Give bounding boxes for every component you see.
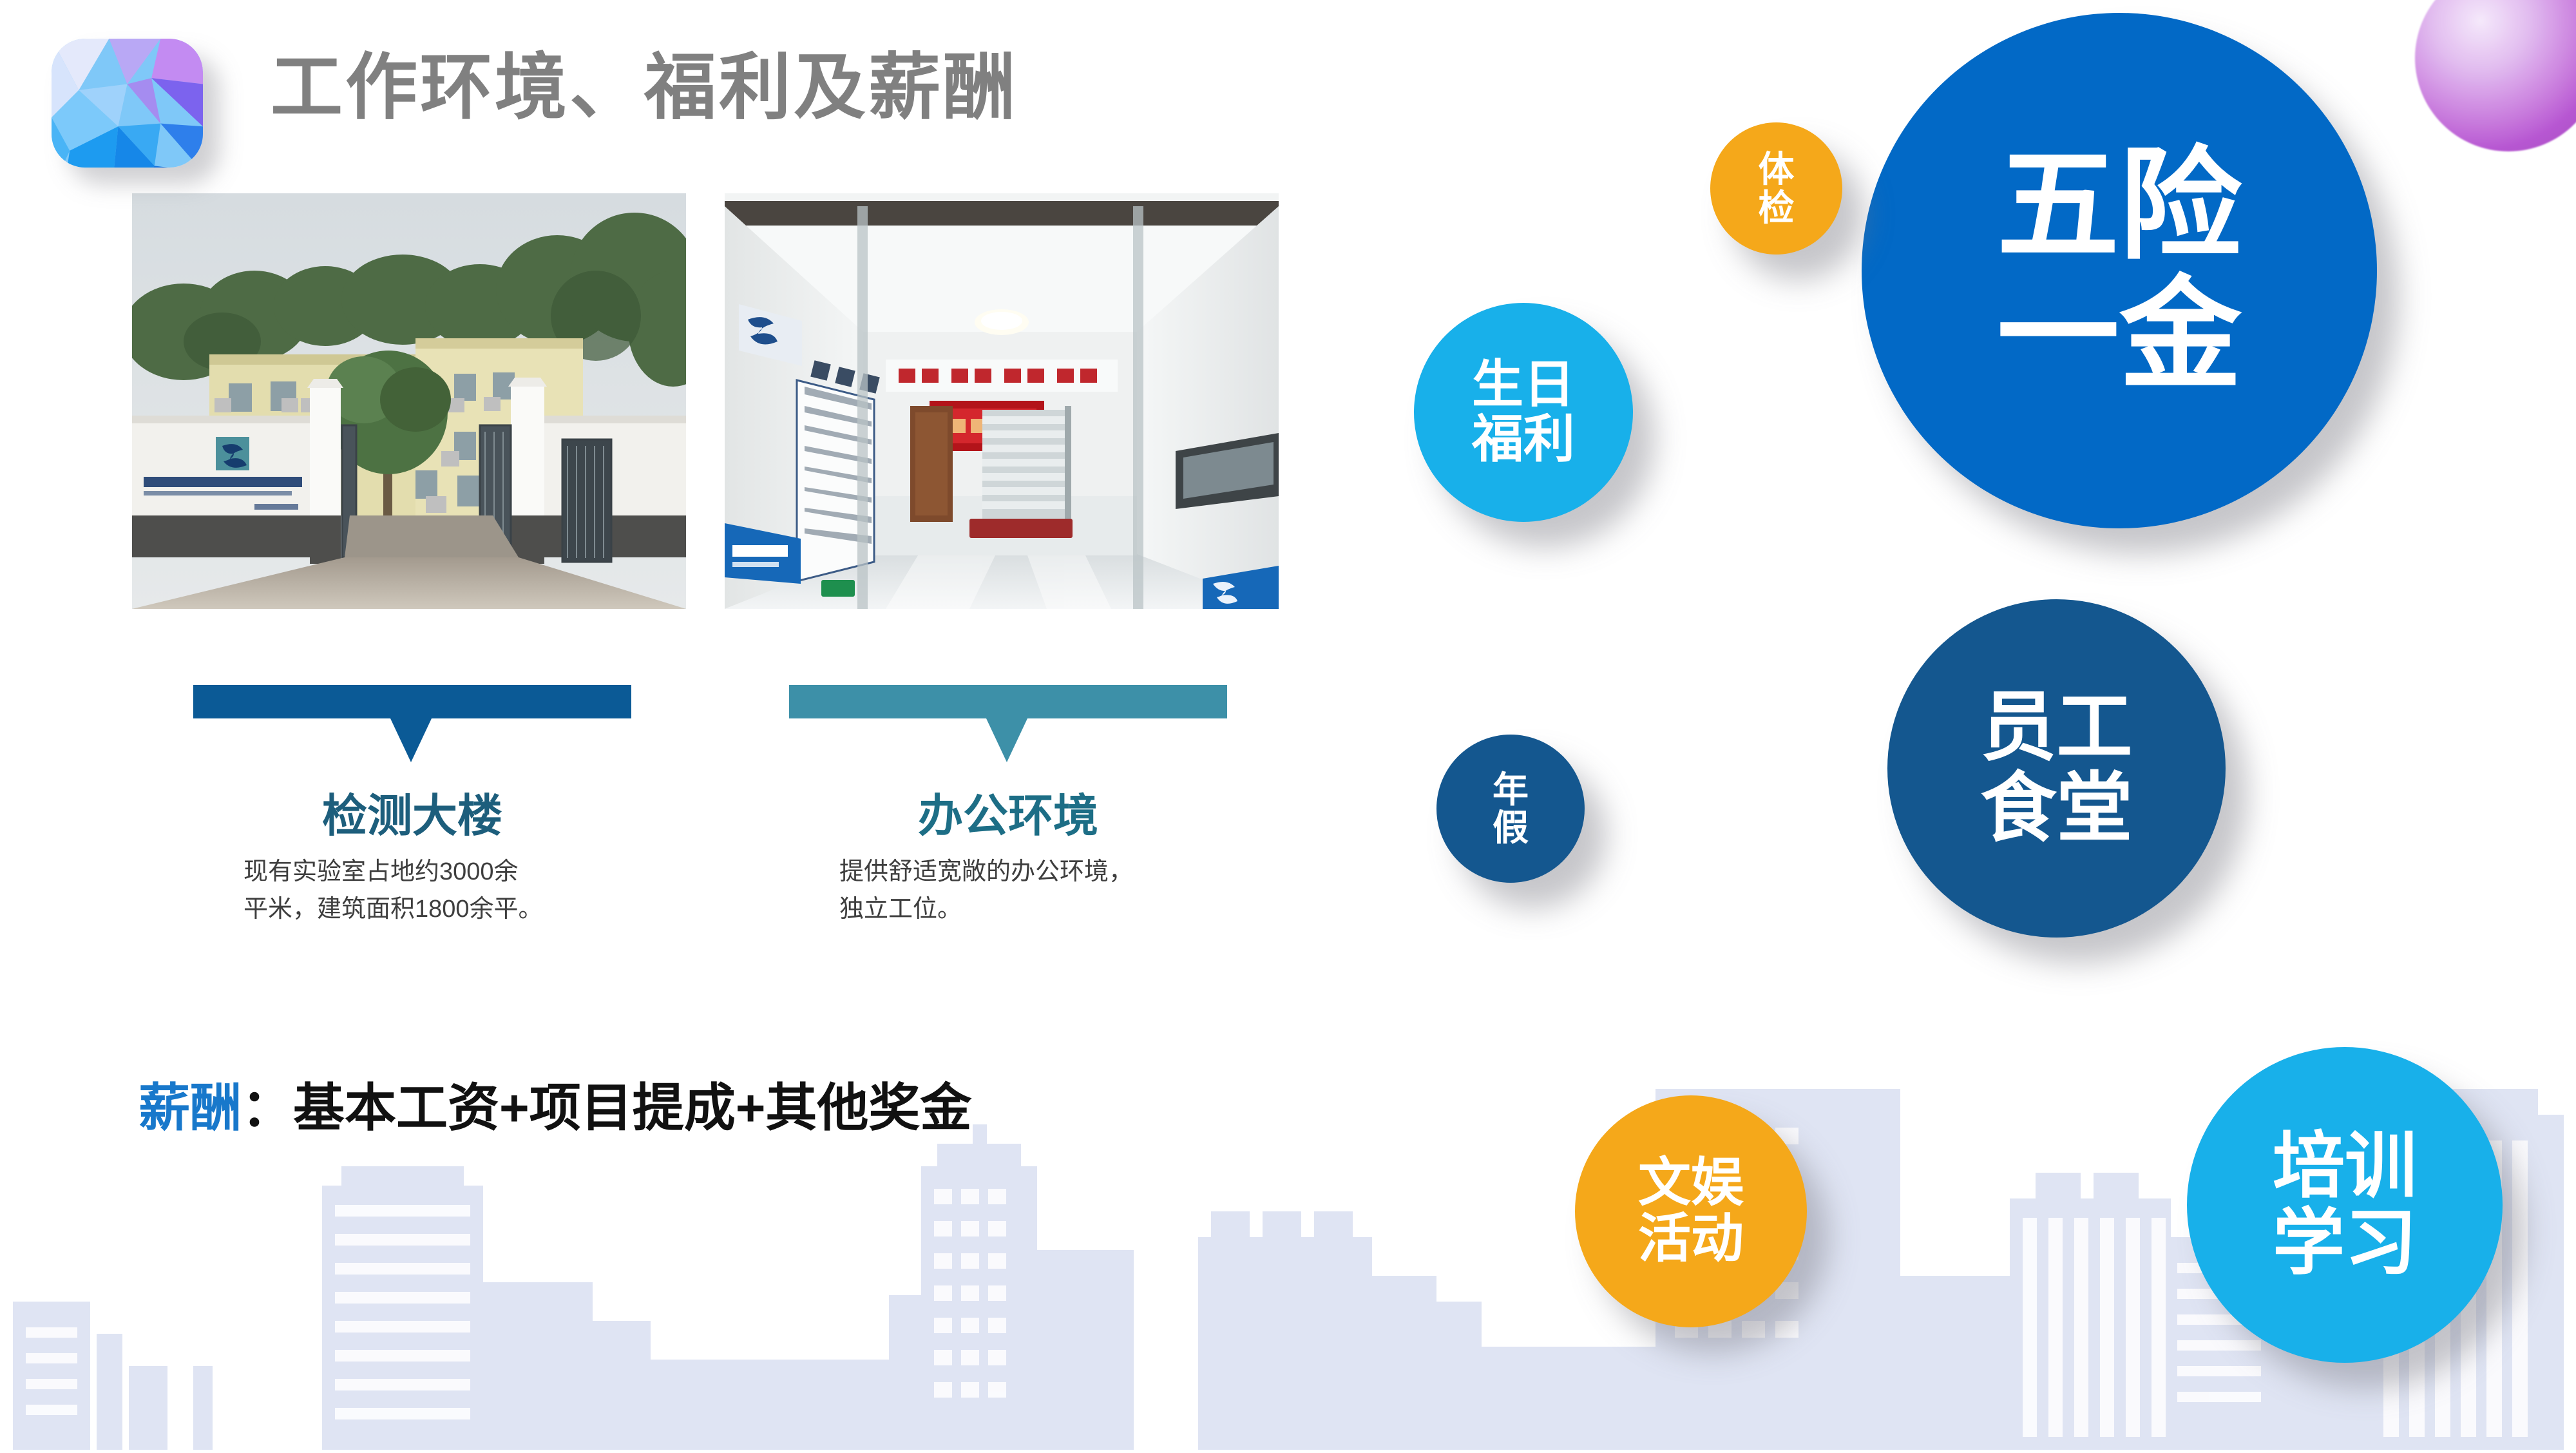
benefit-bubble-recreation-activities[interactable]: 文娱 活动 — [1575, 1095, 1807, 1327]
benefit-bubble-staff-canteen[interactable]: 员工 食堂 — [1887, 599, 2226, 938]
caption-title-detection: 检测大楼 — [193, 793, 631, 840]
caption-desc-detection: 现有实验室占地约3000余 平米，建筑面积1800余平。 — [193, 853, 631, 929]
caption-title-office: 办公环境 — [789, 793, 1227, 840]
purple-sphere-decoration-icon — [2415, 0, 2576, 151]
caption-desc-office: 提供舒适宽敞的办公环境， 独立工位。 — [789, 853, 1227, 929]
photo-detection-building — [132, 193, 686, 609]
photo-office-lobby — [725, 193, 1279, 609]
benefit-bubble-five-insurances[interactable]: 五险 一金 — [1862, 13, 2377, 528]
benefit-label-line1: 培训 — [2273, 1128, 2417, 1205]
benefit-label-line2: 检 — [1759, 189, 1795, 227]
benefit-label-line1: 员工 — [1980, 688, 2132, 768]
benefit-label-line1: 五险 — [1997, 141, 2242, 271]
city-skyline-silhouette-icon — [0, 1089, 2576, 1450]
benefit-label-line2: 食堂 — [1980, 769, 2132, 849]
benefit-label-line2: 一金 — [1997, 271, 2242, 400]
caption-desc-line2: 独立工位。 — [839, 890, 1208, 929]
salary-formula: 基本工资+项目提成+其他奖金 — [293, 1079, 971, 1137]
benefit-label-line2: 学习 — [2273, 1205, 2417, 1282]
gem-app-logo-icon — [52, 39, 203, 168]
benefit-label-line1: 体 — [1759, 150, 1795, 188]
salary-separator: ： — [242, 1079, 293, 1137]
salary-line: 薪酬：基本工资+项目提成+其他奖金 — [138, 1066, 971, 1141]
benefit-label-line2: 福利 — [1472, 412, 1575, 467]
benefit-bubble-health-checkup[interactable]: 体 检 — [1710, 122, 1842, 255]
benefit-bubble-annual-leave[interactable]: 年 假 — [1436, 735, 1585, 883]
caption-desc-line1: 提供舒适宽敞的办公环境， — [839, 853, 1208, 891]
caption-desc-line2: 平米，建筑面积1800余平。 — [243, 890, 612, 929]
benefit-label-line2: 活动 — [1638, 1211, 1744, 1267]
benefit-label-line2: 假 — [1493, 809, 1529, 847]
caption-banner-detection — [193, 685, 631, 762]
benefit-label-line1: 年 — [1493, 771, 1529, 809]
benefit-bubble-training-learning[interactable]: 培训 学习 — [2187, 1047, 2503, 1363]
caption-block-detection: 检测大楼 现有实验室占地约3000余 平米，建筑面积1800余平。 — [193, 793, 631, 929]
benefit-label-line1: 文娱 — [1638, 1155, 1744, 1211]
benefit-label-line1: 生日 — [1472, 358, 1575, 412]
benefit-bubble-birthday-benefit[interactable]: 生日 福利 — [1414, 303, 1633, 522]
salary-label: 薪酬 — [138, 1079, 242, 1137]
page-title: 工作环境、福利及薪酬 — [271, 52, 1018, 124]
caption-block-office: 办公环境 提供舒适宽敞的办公环境， 独立工位。 — [789, 793, 1227, 929]
caption-desc-line1: 现有实验室占地约3000余 — [243, 853, 612, 891]
caption-banner-office — [789, 685, 1227, 762]
